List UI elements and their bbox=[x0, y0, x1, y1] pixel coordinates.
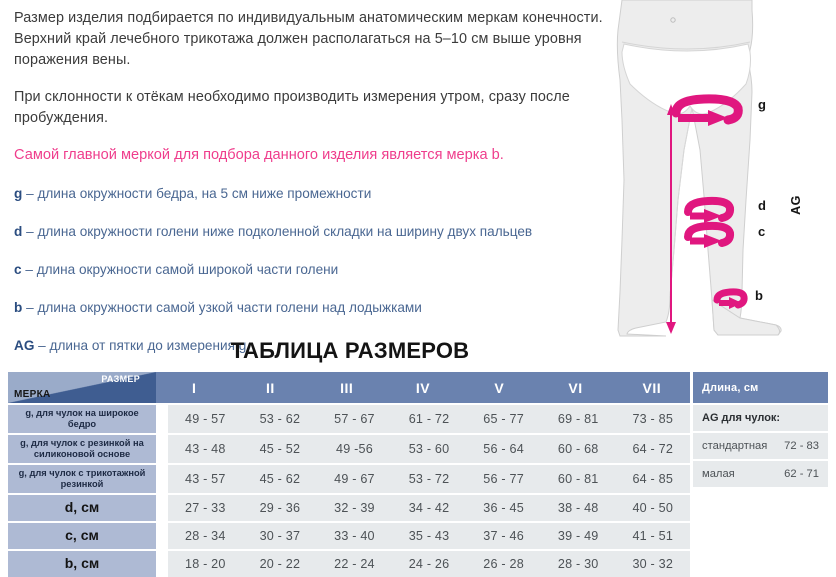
table-cell: 27 - 33 bbox=[168, 495, 243, 521]
table-cell: 53 - 62 bbox=[243, 405, 318, 433]
table-row: d, см 27 - 33 29 - 36 32 - 39 34 - 42 36… bbox=[8, 495, 690, 521]
table-cell: 43 - 57 bbox=[168, 465, 243, 493]
table-cell: 24 - 26 bbox=[392, 551, 467, 577]
table-cell: 35 - 43 bbox=[392, 523, 467, 549]
table-cell: 60 - 68 bbox=[541, 435, 616, 463]
definition-dash: – bbox=[25, 262, 33, 277]
row-label: g, для чулок с трикотажной резинкой bbox=[8, 465, 156, 493]
row-values: 43 - 48 45 - 52 49 -56 53 - 60 56 - 64 6… bbox=[168, 435, 690, 463]
length-panel-row: AG для чулок: bbox=[693, 405, 828, 431]
table-row: g, для чулок с трикотажной резинкой 43 -… bbox=[8, 465, 690, 493]
table-row: g, для чулок на широкое бедро 49 - 57 53… bbox=[8, 405, 690, 433]
figure-label-c: c bbox=[758, 224, 765, 239]
size-table: РАЗМЕР МЕРКА I II III IV V VI VII g, для… bbox=[8, 372, 690, 577]
length-panel: Длина, см AG для чулок: стандартная 72 -… bbox=[693, 372, 828, 487]
table-cell: 38 - 48 bbox=[541, 495, 616, 521]
row-values: 18 - 20 20 - 22 22 - 24 24 - 26 26 - 28 … bbox=[168, 551, 690, 577]
definition-dash: – bbox=[26, 224, 34, 239]
table-cell: 45 - 62 bbox=[243, 465, 318, 493]
table-cell: 40 - 50 bbox=[615, 495, 690, 521]
definition-text: длина окружности самой широкой части гол… bbox=[37, 262, 339, 277]
length-row-name: AG для чулок: bbox=[702, 412, 780, 424]
table-cell: 53 - 72 bbox=[392, 465, 467, 493]
definition-key: b bbox=[14, 300, 22, 315]
length-panel-row: стандартная 72 - 83 bbox=[693, 433, 828, 459]
definition-item-d: d – длина окружности голени ниже подколе… bbox=[14, 222, 614, 241]
page-title: ТАБЛИЦА РАЗМЕРОВ bbox=[0, 338, 700, 364]
table-cell: 64 - 72 bbox=[615, 435, 690, 463]
definition-item-b: b – длина окружности самой узкой части г… bbox=[14, 298, 614, 317]
definition-dash: – bbox=[26, 186, 34, 201]
table-cell: 20 - 22 bbox=[243, 551, 318, 577]
table-cell: 30 - 32 bbox=[615, 551, 690, 577]
definition-text: длина окружности самой узкой части голен… bbox=[37, 300, 421, 315]
figure-label-g: g bbox=[758, 97, 766, 112]
definition-key: d bbox=[14, 224, 22, 239]
table-cell: 22 - 24 bbox=[317, 551, 392, 577]
length-row-name: стандартная bbox=[702, 440, 767, 452]
row-values: 49 - 57 53 - 62 57 - 67 61 - 72 65 - 77 … bbox=[168, 405, 690, 433]
table-header-row: РАЗМЕР МЕРКА I II III IV V VI VII bbox=[8, 372, 690, 403]
table-cell: 73 - 85 bbox=[615, 405, 690, 433]
row-label: d, см bbox=[8, 495, 156, 521]
female-lower-body-illustration bbox=[600, 0, 836, 345]
table-cell: 32 - 39 bbox=[317, 495, 392, 521]
table-cell: 18 - 20 bbox=[168, 551, 243, 577]
leg-measurement-figure: g d c b AG bbox=[600, 0, 836, 345]
intro-paragraph-2: При склонности к отёкам необходимо произ… bbox=[14, 87, 614, 129]
definition-item-g: g – длина окружности бедра, на 5 см ниже… bbox=[14, 184, 614, 203]
figure-label-b: b bbox=[755, 288, 763, 303]
column-header-iii: III bbox=[309, 372, 385, 403]
table-cell: 49 - 57 bbox=[168, 405, 243, 433]
intro-paragraph-1: Размер изделия подбирается по индивидуал… bbox=[14, 8, 614, 71]
measurement-definitions: g – длина окружности бедра, на 5 см ниже… bbox=[14, 184, 614, 355]
row-label: g, для чулок на широкое бедро bbox=[8, 405, 156, 433]
definition-key: c bbox=[14, 262, 22, 277]
row-values: 27 - 33 29 - 36 32 - 39 34 - 42 36 - 45 … bbox=[168, 495, 690, 521]
column-header-vii: VII bbox=[614, 372, 690, 403]
length-row-name: малая bbox=[702, 468, 735, 480]
column-header-ii: II bbox=[232, 372, 308, 403]
table-cell: 61 - 72 bbox=[392, 405, 467, 433]
table-cell: 36 - 45 bbox=[466, 495, 541, 521]
table-cell: 49 -56 bbox=[317, 435, 392, 463]
table-cell: 43 - 48 bbox=[168, 435, 243, 463]
figure-label-d: d bbox=[758, 198, 766, 213]
table-cell: 37 - 46 bbox=[466, 523, 541, 549]
table-row: b, см 18 - 20 20 - 22 22 - 24 24 - 26 26… bbox=[8, 551, 690, 577]
highlight-note: Самой главной меркой для подбора данного… bbox=[14, 145, 614, 166]
corner-label-size: РАЗМЕР bbox=[101, 374, 140, 384]
table-cell: 53 - 60 bbox=[392, 435, 467, 463]
definition-dash: – bbox=[26, 300, 34, 315]
size-chart-page: Размер изделия подбирается по индивидуал… bbox=[0, 0, 836, 571]
table-cell: 57 - 67 bbox=[317, 405, 392, 433]
table-cell: 28 - 34 bbox=[168, 523, 243, 549]
table-cell: 60 - 81 bbox=[541, 465, 616, 493]
table-cell: 33 - 40 bbox=[317, 523, 392, 549]
table-corner-cell: РАЗМЕР МЕРКА bbox=[8, 372, 156, 403]
table-row: c, см 28 - 34 30 - 37 33 - 40 35 - 43 37… bbox=[8, 523, 690, 549]
definition-text: длина окружности бедра, на 5 см ниже про… bbox=[37, 186, 371, 201]
column-header-iv: IV bbox=[385, 372, 461, 403]
definition-text: длина окружности голени ниже подколенной… bbox=[37, 224, 532, 239]
table-cell: 30 - 37 bbox=[243, 523, 318, 549]
row-values: 43 - 57 45 - 62 49 - 67 53 - 72 56 - 77 … bbox=[168, 465, 690, 493]
definition-key: g bbox=[14, 186, 22, 201]
length-panel-row: малая 62 - 71 bbox=[693, 461, 828, 487]
table-cell: 56 - 77 bbox=[466, 465, 541, 493]
table-cell: 65 - 77 bbox=[466, 405, 541, 433]
row-label: c, см bbox=[8, 523, 156, 549]
table-cell: 56 - 64 bbox=[466, 435, 541, 463]
column-header-vi: VI bbox=[537, 372, 613, 403]
length-row-value: 72 - 83 bbox=[784, 440, 819, 452]
table-cell: 28 - 30 bbox=[541, 551, 616, 577]
table-cell: 69 - 81 bbox=[541, 405, 616, 433]
table-row: g, для чулок с резинкой на силиконовой о… bbox=[8, 435, 690, 463]
corner-label-measure: МЕРКА bbox=[14, 389, 51, 400]
intro-text-column: Размер изделия подбирается по индивидуал… bbox=[14, 8, 614, 374]
row-label: b, см bbox=[8, 551, 156, 577]
figure-label-ag: AG bbox=[789, 195, 803, 215]
table-column-headers: I II III IV V VI VII bbox=[156, 372, 690, 403]
row-values: 28 - 34 30 - 37 33 - 40 35 - 43 37 - 46 … bbox=[168, 523, 690, 549]
table-cell: 34 - 42 bbox=[392, 495, 467, 521]
table-cell: 39 - 49 bbox=[541, 523, 616, 549]
definition-item-c: c – длина окружности самой широкой части… bbox=[14, 260, 614, 279]
length-row-value: 62 - 71 bbox=[784, 468, 819, 480]
table-cell: 26 - 28 bbox=[466, 551, 541, 577]
table-cell: 41 - 51 bbox=[615, 523, 690, 549]
length-panel-header: Длина, см bbox=[693, 372, 828, 403]
table-cell: 64 - 85 bbox=[615, 465, 690, 493]
table-cell: 29 - 36 bbox=[243, 495, 318, 521]
column-header-i: I bbox=[156, 372, 232, 403]
table-cell: 45 - 52 bbox=[243, 435, 318, 463]
column-header-v: V bbox=[461, 372, 537, 403]
row-label: g, для чулок с резинкой на силиконовой о… bbox=[8, 435, 156, 463]
table-cell: 49 - 67 bbox=[317, 465, 392, 493]
